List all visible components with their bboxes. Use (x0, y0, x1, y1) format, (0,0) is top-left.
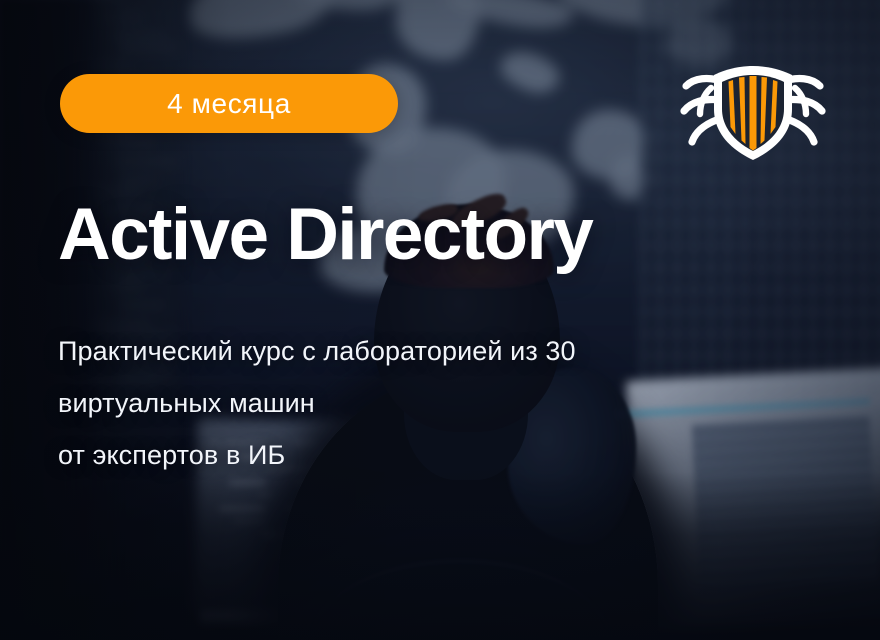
duration-badge-label: 4 месяца (167, 90, 291, 118)
subtitle-line-2: виртуальных машин (58, 377, 576, 429)
page-title: Active Directory (58, 198, 592, 272)
duration-badge: 4 месяца (60, 74, 398, 133)
subtitle: Практический курс с лабораторией из 30 в… (58, 325, 576, 481)
banner-content: 4 месяца Active Directory Практический к… (0, 0, 880, 640)
promo-banner: 4 месяца Active Directory Практический к… (0, 0, 880, 640)
subtitle-line-3: от экспертов в ИБ (58, 429, 576, 481)
subtitle-line-1: Практический курс с лабораторией из 30 (58, 325, 576, 377)
codeby-beetle-shield-logo (678, 52, 828, 170)
